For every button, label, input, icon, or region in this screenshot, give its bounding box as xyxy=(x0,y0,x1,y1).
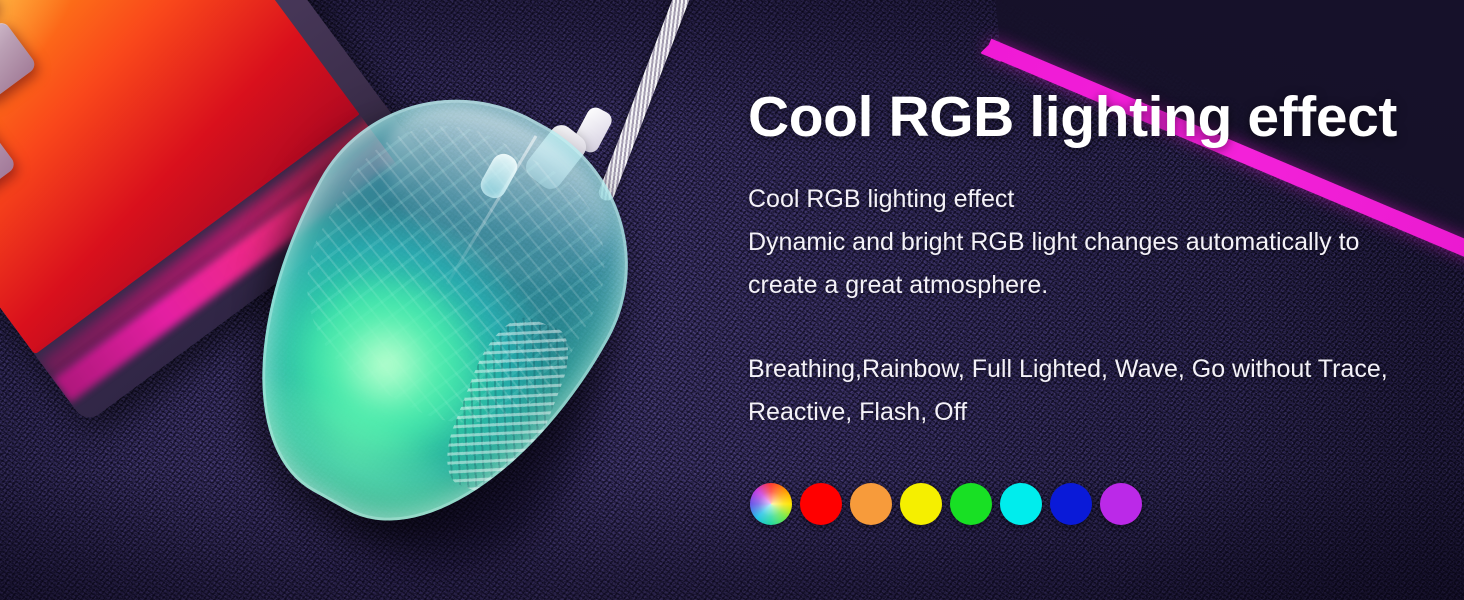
description-line: Dynamic and bright RGB light changes aut… xyxy=(748,221,1408,264)
color-swatch-row xyxy=(750,483,1142,525)
lighting-modes-block: Breathing,Rainbow, Full Lighted, Wave, G… xyxy=(748,348,1428,434)
swatch-blue xyxy=(1050,483,1092,525)
description-line: create a great atmosphere. xyxy=(748,264,1408,307)
swatch-purple xyxy=(1100,483,1142,525)
swatch-orange xyxy=(850,483,892,525)
swatch-red xyxy=(800,483,842,525)
swatch-green xyxy=(950,483,992,525)
page-title: Cool RGB lighting effect xyxy=(748,84,1397,150)
description-line: Cool RGB lighting effect xyxy=(748,178,1408,221)
keycap xyxy=(0,20,38,104)
lighting-modes-line: Reactive, Flash, Off xyxy=(748,391,1428,434)
swatch-cyan xyxy=(1000,483,1042,525)
keycap: ↵ xyxy=(0,108,17,212)
description-block: Cool RGB lighting effect Dynamic and bri… xyxy=(748,178,1408,307)
copy-panel: Cool RGB lighting effect Cool RGB lighti… xyxy=(748,0,1448,600)
swatch-rainbow xyxy=(750,483,792,525)
swatch-yellow xyxy=(900,483,942,525)
lighting-modes-line: Breathing,Rainbow, Full Lighted, Wave, G… xyxy=(748,348,1428,391)
product-banner: 6 + ↵ xyxy=(0,0,1464,600)
